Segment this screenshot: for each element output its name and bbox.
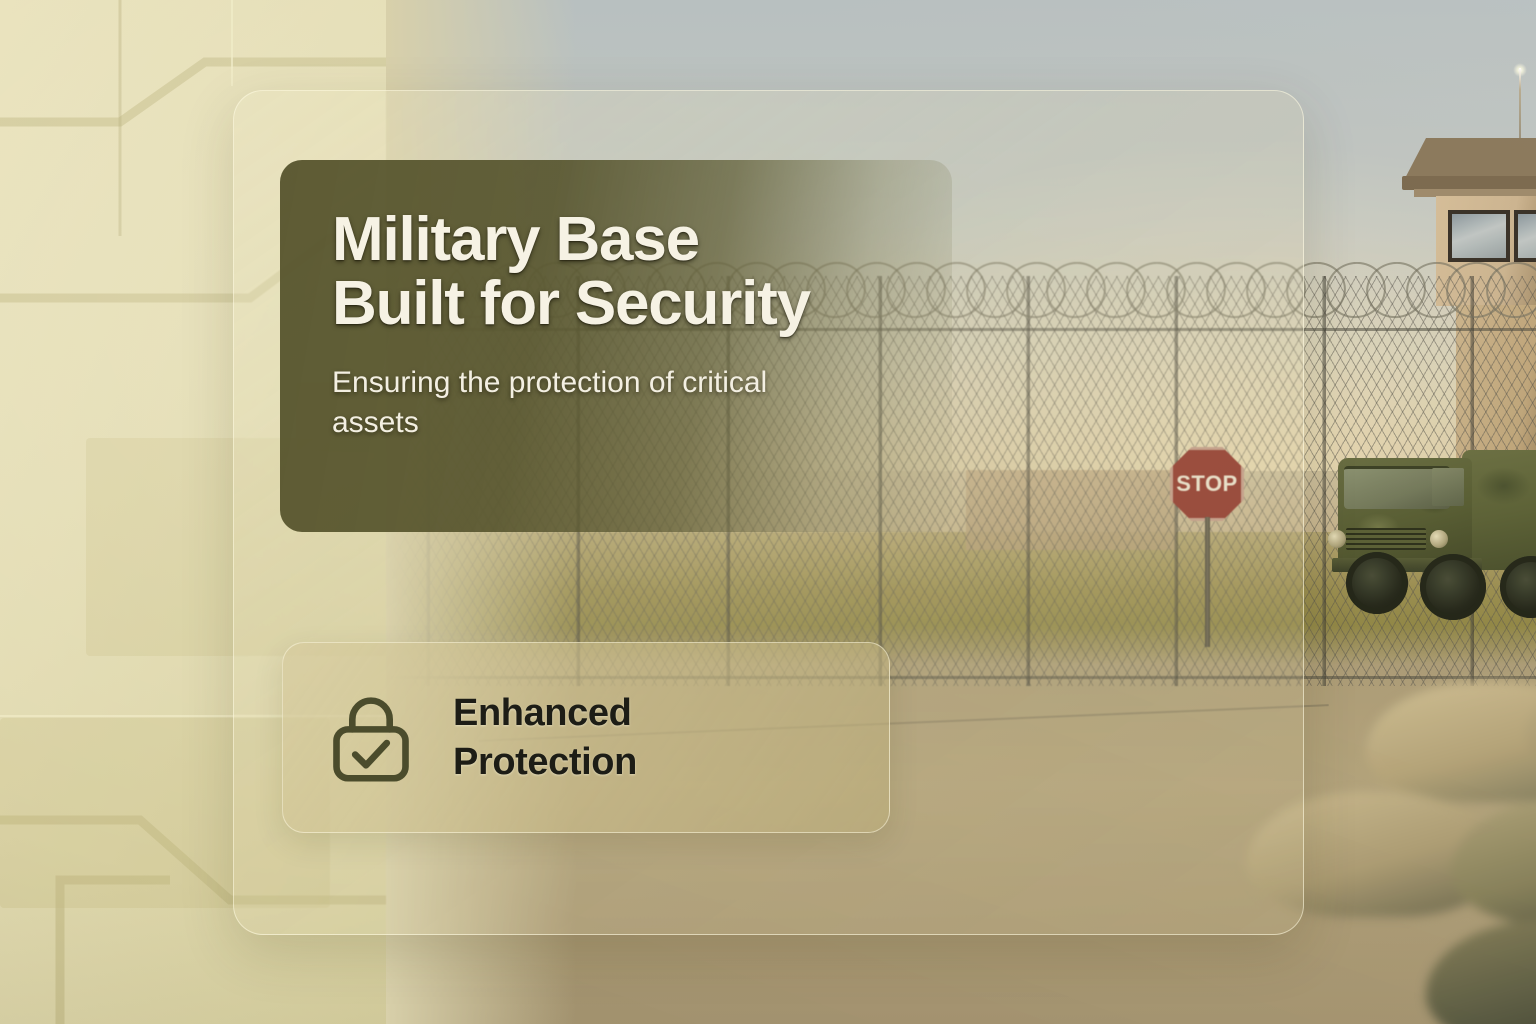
lock-check-icon xyxy=(325,692,417,784)
feature-label: Enhanced Protection xyxy=(453,689,637,786)
page-title-line2: Built for Security xyxy=(332,272,952,336)
hero-title-card: Military Base Built for Security Ensurin… xyxy=(280,160,952,532)
feature-card-enhanced-protection[interactable]: Enhanced Protection xyxy=(282,642,890,833)
feature-label-line2: Protection xyxy=(453,738,637,787)
feature-label-line1: Enhanced xyxy=(453,689,637,738)
poster-canvas: STOP xyxy=(0,0,1536,1024)
page-title-line1: Military Base xyxy=(332,208,952,272)
page-subtitle: Ensuring the protection of critical asse… xyxy=(332,363,832,442)
